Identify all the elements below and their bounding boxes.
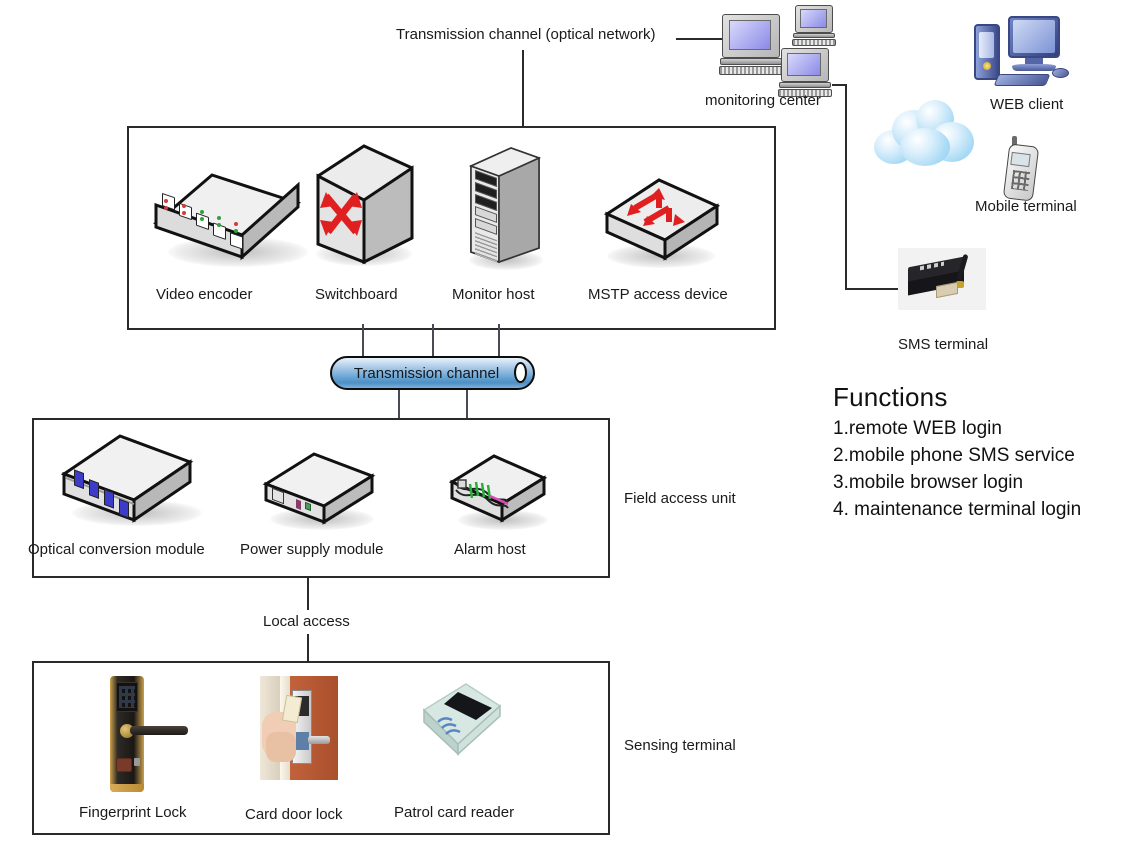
sms-terminal-icon [898, 248, 986, 310]
mstp-access-device-icon [601, 178, 723, 270]
monitoring-to-sms-line-h2 [845, 288, 898, 290]
transmission-channel-pipe-label: Transmission channel [354, 365, 499, 382]
power-supply-module-icon [260, 450, 378, 532]
functions-title: Functions [833, 382, 1123, 413]
card-door-lock-icon [260, 676, 338, 780]
topbox-to-pipe-line-2 [432, 324, 434, 358]
patrol-card-reader-icon [414, 682, 504, 760]
diagram-canvas: Transmission channel (optical network) m… [0, 0, 1133, 846]
alarm-host-label: Alarm host [454, 541, 526, 559]
monitoring-center-pc-secondary-icon [795, 5, 839, 47]
functions-item-3: 3.mobile browser login [833, 472, 1123, 494]
topbox-to-pipe-line-3 [498, 324, 500, 358]
patrol-card-reader-label: Patrol card reader [394, 804, 514, 822]
title-leader-line [676, 38, 726, 40]
switchboard-icon [312, 140, 424, 270]
transmission-channel-pipe[interactable]: Transmission channel [330, 356, 535, 390]
sensing-terminal-label: Sensing terminal [624, 737, 736, 755]
fingerprint-lock-icon [110, 676, 192, 792]
local-access-label: Local access [263, 613, 350, 631]
sms-terminal-label: SMS terminal [898, 336, 988, 354]
functions-item-4: 4. maintenance terminal login [833, 499, 1123, 521]
switchboard-label: Switchboard [315, 286, 398, 304]
web-client-icon [968, 14, 1072, 92]
monitoring-to-sms-line-v [845, 84, 847, 289]
local-access-line-lower [307, 634, 309, 662]
optical-conversion-module-label: Optical conversion module [28, 541, 205, 559]
fingerprint-lock-label: Fingerprint Lock [79, 804, 187, 822]
monitoring-to-sms-line-h1 [832, 84, 846, 86]
pipe-end-cap-icon [514, 362, 527, 383]
web-client-label: WEB client [990, 96, 1063, 114]
alarm-host-icon [446, 452, 550, 534]
monitor-host-label: Monitor host [452, 286, 535, 304]
video-encoder-icon [146, 163, 306, 273]
monitoring-center-pc-tertiary-icon [781, 48, 835, 96]
mstp-access-device-label: MSTP access device [588, 286, 728, 304]
topbox-to-pipe-line-1 [362, 324, 364, 358]
monitoring-center-pc-primary-icon [722, 14, 786, 76]
transmission-channel-optical-network-label: Transmission channel (optical network) [396, 26, 656, 44]
cloud-icon [872, 98, 980, 170]
functions-item-1: 1.remote WEB login [833, 418, 1123, 440]
functions-item-2: 2.mobile phone SMS service [833, 445, 1123, 467]
optical-conversion-module-icon [56, 432, 204, 528]
field-access-unit-label: Field access unit [624, 490, 736, 508]
mobile-terminal-label: Mobile terminal [975, 198, 1077, 216]
video-encoder-label: Video encoder [156, 286, 252, 304]
monitor-host-icon [467, 146, 543, 268]
power-supply-module-label: Power supply module [240, 541, 383, 559]
pipe-to-field-line-2 [466, 390, 468, 418]
mobile-terminal-icon [1004, 140, 1046, 202]
card-door-lock-label: Card door lock [245, 806, 343, 824]
functions-panel: Functions 1.remote WEB login 2.mobile ph… [833, 382, 1123, 521]
local-access-line-upper [307, 578, 309, 610]
title-drop-line [522, 50, 524, 126]
monitoring-center-label: monitoring center [705, 92, 821, 110]
pipe-to-field-line-1 [398, 390, 400, 418]
